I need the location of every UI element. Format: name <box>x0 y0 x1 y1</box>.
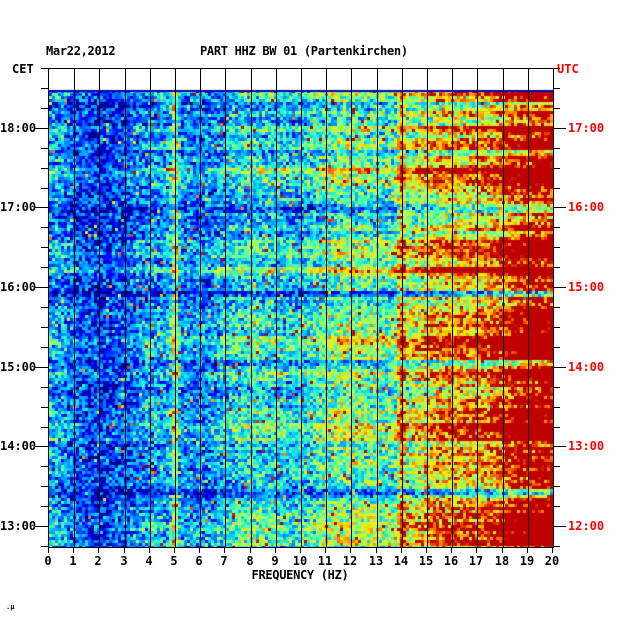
x-tick-label-18: 18 <box>495 554 509 568</box>
y-tick-label-cet-18:00: 18:00 <box>0 121 33 135</box>
x-tick <box>124 547 125 553</box>
y-tick-left <box>35 128 48 129</box>
y-tick-right <box>553 207 566 208</box>
y-tick-left <box>41 108 48 109</box>
date-label: Mar22,2012 <box>46 44 115 58</box>
spectrogram-canvas <box>49 69 553 547</box>
x-tick-label-15: 15 <box>419 554 433 568</box>
y-tick-left <box>41 307 48 308</box>
x-tick <box>48 547 49 553</box>
y-tick-label-utc-14:00: 14:00 <box>568 360 604 374</box>
x-tick <box>527 547 528 553</box>
x-tick <box>73 547 74 553</box>
x-tick <box>502 547 503 553</box>
y-tick-right <box>553 466 560 467</box>
y-tick-left <box>41 88 48 89</box>
y-tick-left <box>35 287 48 288</box>
y-tick-label-cet-17:00: 17:00 <box>0 200 33 214</box>
y-tick-right <box>553 506 560 507</box>
x-tick-label-19: 19 <box>520 554 534 568</box>
y-tick-label-cet-15:00: 15:00 <box>0 360 33 374</box>
y-tick-right <box>553 267 560 268</box>
x-tick <box>325 547 326 553</box>
x-tick <box>401 547 402 553</box>
y-tick-left <box>35 367 48 368</box>
x-tick-label-16: 16 <box>444 554 458 568</box>
y-tick-right <box>553 486 560 487</box>
x-tick <box>98 547 99 553</box>
x-tick <box>174 547 175 553</box>
y-tick-label-utc-17:00: 17:00 <box>568 121 604 135</box>
y-tick-left <box>41 347 48 348</box>
x-tick-label-0: 0 <box>44 554 51 568</box>
x-tick-label-14: 14 <box>394 554 408 568</box>
x-tick-label-8: 8 <box>246 554 253 568</box>
x-tick <box>426 547 427 553</box>
y-tick-right <box>553 68 560 69</box>
x-tick-label-2: 2 <box>94 554 101 568</box>
y-tick-label-utc-13:00: 13:00 <box>568 439 604 453</box>
y-tick-left <box>41 546 48 547</box>
x-tick <box>275 547 276 553</box>
spectrogram-plot <box>48 68 554 548</box>
y-tick-left <box>35 446 48 447</box>
y-tick-right <box>553 347 560 348</box>
y-tick-right <box>553 427 560 428</box>
y-tick-right <box>553 188 560 189</box>
y-tick-label-cet-13:00: 13:00 <box>0 519 33 533</box>
y-tick-right <box>553 526 566 527</box>
y-tick-label-cet-14:00: 14:00 <box>0 439 33 453</box>
y-tick-label-cet-16:00: 16:00 <box>0 280 33 294</box>
x-tick-label-12: 12 <box>343 554 357 568</box>
x-tick-label-17: 17 <box>469 554 483 568</box>
y-tick-left <box>41 327 48 328</box>
y-tick-left <box>41 407 48 408</box>
y-tick-left <box>41 387 48 388</box>
y-tick-right <box>553 227 560 228</box>
y-tick-right <box>553 367 566 368</box>
y-tick-left <box>41 247 48 248</box>
y-tick-left <box>41 267 48 268</box>
x-tick-label-9: 9 <box>271 554 278 568</box>
y-tick-left <box>41 227 48 228</box>
y-tick-left <box>41 148 48 149</box>
x-tick-label-1: 1 <box>69 554 76 568</box>
x-tick-label-7: 7 <box>220 554 227 568</box>
x-tick-label-20: 20 <box>545 554 559 568</box>
y-tick-label-utc-16:00: 16:00 <box>568 200 604 214</box>
spectrogram-page: Mar22,2012 PART HHZ BW 01 (Partenkirchen… <box>0 0 630 624</box>
y-tick-left <box>35 207 48 208</box>
x-tick <box>552 547 553 553</box>
left-timezone-label: CET <box>12 62 34 76</box>
x-axis-title: FREQUENCY (HZ) <box>0 568 600 582</box>
x-tick-label-3: 3 <box>120 554 127 568</box>
y-tick-right <box>553 407 560 408</box>
y-tick-right <box>553 168 560 169</box>
page-title: PART HHZ BW 01 (Partenkirchen) <box>200 44 408 58</box>
x-tick-label-11: 11 <box>318 554 332 568</box>
x-tick-label-4: 4 <box>145 554 152 568</box>
y-tick-right <box>553 387 560 388</box>
x-tick <box>250 547 251 553</box>
x-tick-label-10: 10 <box>293 554 307 568</box>
y-tick-right <box>553 327 560 328</box>
x-tick-label-6: 6 <box>195 554 202 568</box>
x-tick <box>199 547 200 553</box>
y-tick-label-utc-15:00: 15:00 <box>568 280 604 294</box>
y-tick-left <box>41 506 48 507</box>
x-tick-label-5: 5 <box>170 554 177 568</box>
x-tick-label-13: 13 <box>369 554 383 568</box>
y-tick-right <box>553 108 560 109</box>
y-tick-left <box>41 168 48 169</box>
x-tick <box>300 547 301 553</box>
y-tick-left <box>41 68 48 69</box>
y-tick-right <box>553 247 560 248</box>
y-tick-left <box>41 486 48 487</box>
x-tick <box>350 547 351 553</box>
y-tick-left <box>35 526 48 527</box>
x-tick <box>476 547 477 553</box>
right-timezone-label: UTC <box>557 62 579 76</box>
x-tick <box>224 547 225 553</box>
y-tick-left <box>41 188 48 189</box>
x-tick <box>376 547 377 553</box>
y-tick-right <box>553 307 560 308</box>
x-tick <box>451 547 452 553</box>
x-tick <box>149 547 150 553</box>
y-tick-left <box>41 466 48 467</box>
y-tick-right <box>553 148 560 149</box>
y-tick-right <box>553 287 566 288</box>
y-tick-right <box>553 546 560 547</box>
corner-artifact-mark: .µ <box>6 604 14 611</box>
y-tick-label-utc-12:00: 12:00 <box>568 519 604 533</box>
y-tick-right <box>553 446 566 447</box>
y-tick-left <box>41 427 48 428</box>
y-tick-right <box>553 88 560 89</box>
y-tick-right <box>553 128 566 129</box>
